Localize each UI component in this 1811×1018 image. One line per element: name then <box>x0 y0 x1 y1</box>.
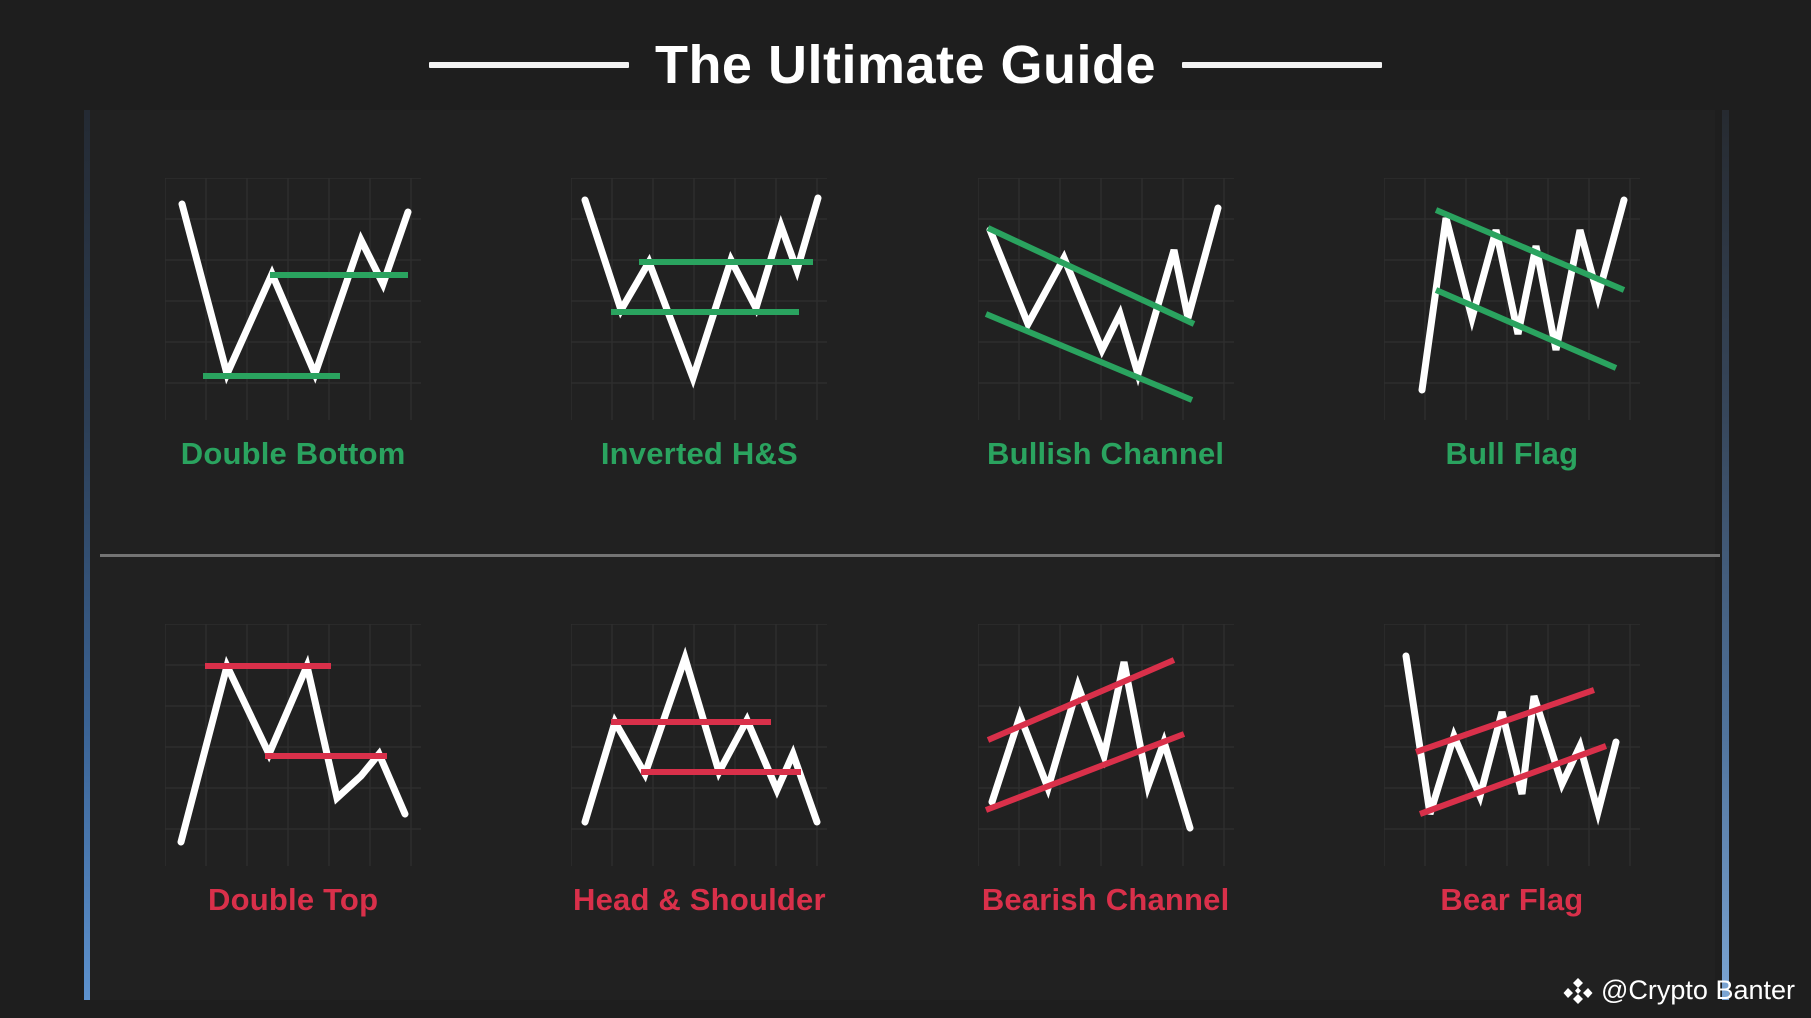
chart-svg <box>571 178 827 420</box>
pattern-card-bullish-channel[interactable]: Bullish Channel <box>903 110 1309 554</box>
chart-grid <box>571 178 827 420</box>
page-title: The Ultimate Guide <box>655 34 1156 96</box>
pattern-card-bearish-channel[interactable]: Bearish Channel <box>903 556 1309 1000</box>
pattern-label-double-bottom: Double Bottom <box>181 436 406 472</box>
pattern-label-double-top: Double Top <box>208 882 378 918</box>
pattern-card-head-and-shoulder[interactable]: Head & Shoulder <box>496 556 902 1000</box>
pattern-chart-bull-flag <box>1384 178 1640 420</box>
infographic-page: The Ultimate Guide Double Bottom Inverte… <box>0 0 1811 1018</box>
pattern-label-bullish-channel: Bullish Channel <box>987 436 1224 472</box>
price-line <box>990 208 1218 374</box>
chart-svg <box>978 178 1234 420</box>
pattern-chart-bear-flag <box>1384 624 1640 866</box>
chart-svg <box>165 624 421 866</box>
chart-svg <box>165 178 421 420</box>
chart-svg <box>978 624 1234 866</box>
watermark-handle: @Crypto Banter <box>1601 975 1795 1006</box>
pattern-label-bear-flag: Bear Flag <box>1440 882 1583 918</box>
bearish-patterns-row: Double Top Head & Shoulder Bearish Chann… <box>90 556 1715 1000</box>
pattern-card-double-top[interactable]: Double Top <box>90 556 496 1000</box>
watermark: @Crypto Banter <box>1563 975 1795 1006</box>
pattern-card-inverted-hs[interactable]: Inverted H&S <box>496 110 902 554</box>
pattern-chart-bearish-channel <box>978 624 1234 866</box>
diamond-logo-icon <box>1563 976 1593 1006</box>
pattern-card-bear-flag[interactable]: Bear Flag <box>1309 556 1715 1000</box>
title-rule-left-icon <box>429 62 629 68</box>
pattern-label-inverted-hs: Inverted H&S <box>601 436 798 472</box>
trendline-upper-trendline <box>988 660 1174 740</box>
price-line <box>1406 656 1616 814</box>
trendline-upper-trendline <box>1416 690 1594 752</box>
chart-svg <box>571 624 827 866</box>
bullish-patterns-row: Double Bottom Inverted H&S Bullish Chann… <box>90 110 1715 554</box>
pattern-chart-double-bottom <box>165 178 421 420</box>
chart-svg <box>1384 178 1640 420</box>
title-rule-right-icon <box>1182 62 1382 68</box>
pattern-chart-head-and-shoulder <box>571 624 827 866</box>
price-line <box>182 204 408 374</box>
pattern-chart-double-top <box>165 624 421 866</box>
pattern-chart-inverted-hs <box>571 178 827 420</box>
page-title-bar: The Ultimate Guide <box>0 22 1811 108</box>
chart-svg <box>1384 624 1640 866</box>
pattern-card-bull-flag[interactable]: Bull Flag <box>1309 110 1715 554</box>
pattern-label-bearish-channel: Bearish Channel <box>982 882 1230 918</box>
price-line <box>585 658 817 822</box>
pattern-label-bull-flag: Bull Flag <box>1446 436 1579 472</box>
patterns-frame: Double Bottom Inverted H&S Bullish Chann… <box>90 110 1715 1000</box>
chart-grid <box>165 178 421 420</box>
price-line <box>585 198 818 378</box>
pattern-chart-bullish-channel <box>978 178 1234 420</box>
pattern-card-double-bottom[interactable]: Double Bottom <box>90 110 496 554</box>
pattern-label-head-and-shoulder: Head & Shoulder <box>573 882 826 918</box>
accent-bar-right <box>1722 110 1729 1000</box>
